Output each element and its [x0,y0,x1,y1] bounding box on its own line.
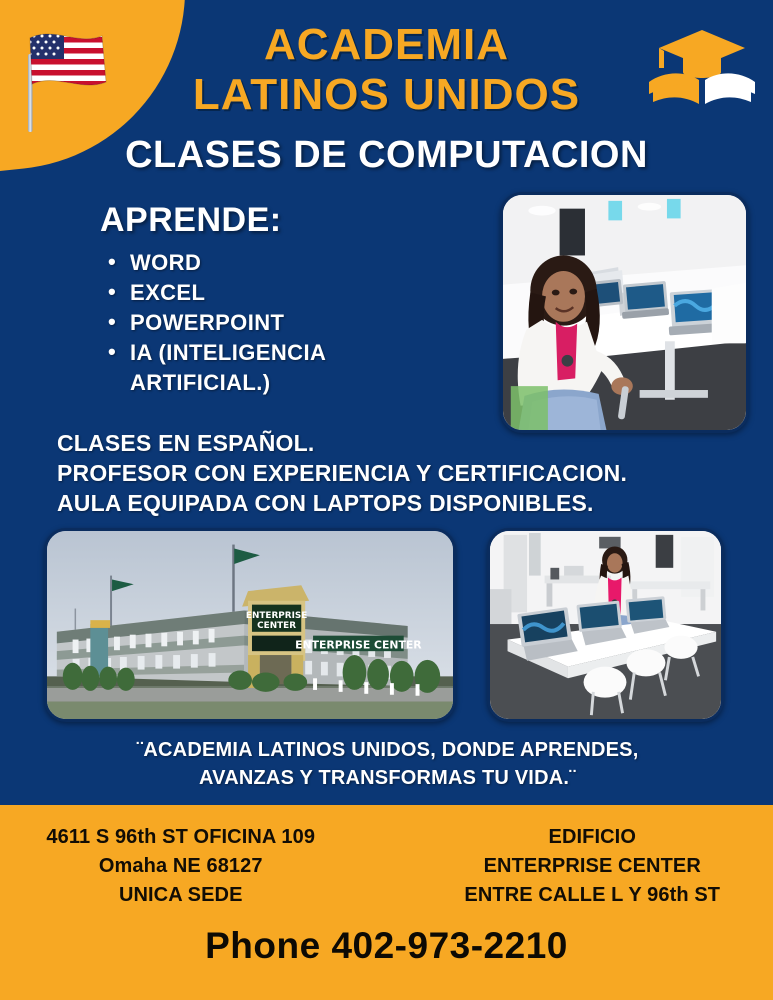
info-section: CLASES EN ESPAÑOL. PROFESOR CON EXPERIEN… [57,428,717,518]
learn-heading: APRENDE: [100,200,480,240]
poster-title: ACADEMIA LATINOS UNIDOS [0,20,773,120]
address-block: 4611 S 96th ST OFICINA 109 Omaha NE 6812… [0,823,402,910]
list-item: POWERPOINT [100,308,480,338]
building-facade-sign-text: ENTERPRISE CENTER [295,638,422,651]
learn-item-label: EXCEL [130,280,205,305]
address-line-1: 4611 S 96th ST OFICINA 109 [0,823,362,852]
list-item: IA (INTELIGENCIA ARTIFICIAL.) [100,338,480,398]
learn-item-label: POWERPOINT [130,310,284,335]
address-line-2: Omaha NE 68127 [0,852,362,881]
info-line-2: PROFESOR CON EXPERIENCIA Y CERTIFICACION… [57,458,717,488]
address-line-3: UNICA SEDE [0,881,362,910]
building-tower-sign-text: ENTERPRISE [246,611,307,621]
location-line-2: ENTERPRISE CENTER [412,852,773,881]
learn-section: APRENDE: WORD EXCEL POWERPOINT IA (INTEL… [100,200,480,398]
list-item: EXCEL [100,278,480,308]
location-block: EDIFICIO ENTERPRISE CENTER ENTRE CALLE L… [402,823,773,910]
learn-item-label: WORD [130,250,201,275]
learn-list: WORD EXCEL POWERPOINT IA (INTELIGENCIA A… [100,248,480,398]
svg-text:CENTER: CENTER [257,621,296,631]
footer-bar: 4611 S 96th ST OFICINA 109 Omaha NE 6812… [0,805,773,1000]
classroom-photo [487,528,724,722]
phone-number: Phone 402-973-2210 [0,925,773,967]
poster-subtitle: CLASES DE COMPUTACION [0,133,773,177]
list-item: WORD [100,248,480,278]
flyer-poster: ACADEMIA LATINOS UNIDOS CLASES DE COMPUT… [0,0,773,1000]
location-line-3: ENTRE CALLE L Y 96th ST [412,881,773,910]
quote-line-1: ¨ACADEMIA LATINOS UNIDOS, DONDE APRENDES… [60,736,715,764]
title-line-1: ACADEMIA [0,20,773,70]
info-line-3: AULA EQUIPADA CON LAPTOPS DISPONIBLES. [57,488,717,518]
footer-columns: 4611 S 96th ST OFICINA 109 Omaha NE 6812… [0,823,773,910]
instructor-laptops-photo [500,192,749,433]
enterprise-center-building-photo: ENTERPRISE CENTER ENTERPRISE CENTER [44,528,456,722]
location-line-1: EDIFICIO [412,823,773,852]
learn-item-label-continuation: ARTIFICIAL.) [130,368,480,398]
tagline-quote: ¨ACADEMIA LATINOS UNIDOS, DONDE APRENDES… [60,736,715,792]
title-line-2: LATINOS UNIDOS [0,70,773,120]
quote-line-2: AVANZAS Y TRANSFORMAS TU VIDA.¨ [60,764,715,792]
learn-item-label: IA (INTELIGENCIA [130,340,326,365]
